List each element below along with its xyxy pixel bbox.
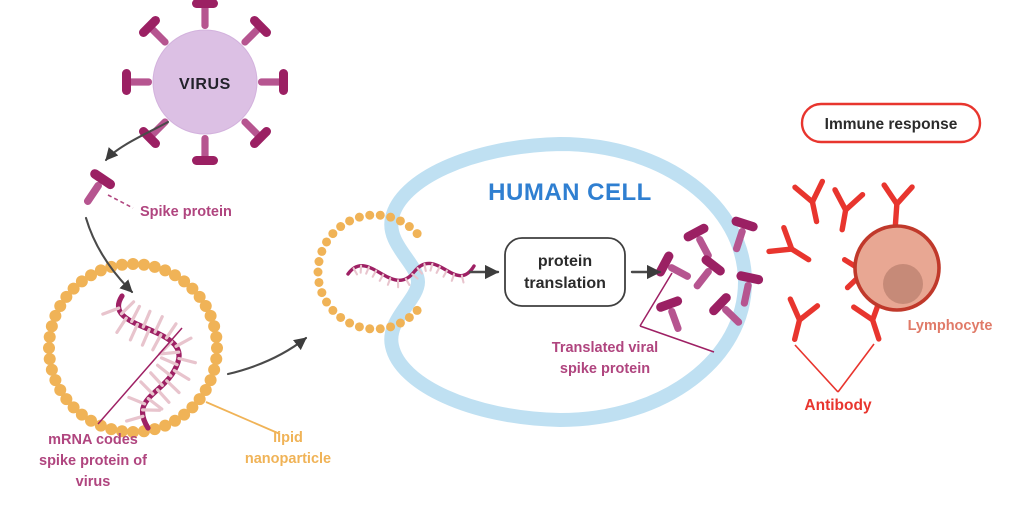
mrna-base-rung	[158, 390, 169, 403]
lipid-molecule-dot	[44, 353, 56, 365]
antibody-label: Antibody	[804, 397, 872, 414]
virus-spike-protein	[122, 69, 152, 95]
lipid-molecule-dot	[127, 258, 139, 270]
mrna-base-rung	[117, 318, 126, 332]
lipid-molecule-dot	[46, 364, 58, 376]
mrna-base-rung	[354, 268, 357, 274]
lipid-molecule-dot	[116, 259, 128, 271]
mrna-base-rung	[158, 365, 171, 376]
protein-translation-line-2: translation	[524, 275, 606, 292]
antibody	[881, 185, 912, 225]
mrna-codes-label-line-1: mRNA codes	[48, 432, 138, 448]
lipid-molecule-dot	[210, 331, 222, 343]
lipid-nanoparticle-leader-line	[206, 402, 280, 434]
mrna-codes-label-line-2: spike protein of	[39, 453, 147, 469]
antibody	[795, 181, 830, 224]
mrna-base-rung	[162, 352, 179, 354]
virus-spike-protein	[192, 0, 218, 29]
lymphocyte-nucleus	[883, 264, 923, 304]
lipid-molecule-dot	[317, 288, 326, 297]
lipid-molecule-dot	[386, 213, 395, 222]
lipid-molecule-dot	[365, 211, 374, 220]
lipid-molecule-dot	[396, 319, 405, 328]
mrna-base-rung	[148, 399, 161, 409]
mrna-base-rung	[122, 302, 134, 314]
lipid-molecule-dot	[149, 261, 161, 273]
mrna-base-rung	[167, 381, 179, 393]
spike-protein-isolated	[74, 167, 117, 212]
lipid-molecule-dot	[345, 216, 354, 225]
mrna-base-rung	[127, 416, 143, 421]
lipid-molecule-dot	[355, 213, 364, 222]
lipid-molecule-dot	[314, 278, 323, 287]
lipid-molecule-dot	[328, 229, 337, 238]
lipid-molecule-dot	[149, 423, 161, 435]
mrna-base-rung	[174, 370, 188, 379]
lipid-molecule-dot	[336, 222, 345, 231]
spike-protein-label: Spike protein	[140, 204, 232, 220]
mrna-base-rung	[388, 278, 390, 285]
mrna-codes-label-line-3: virus	[76, 474, 111, 490]
protein-translation-line-1: protein	[538, 253, 592, 270]
lipid-molecule-dot	[159, 420, 171, 432]
lipid-molecule-dot	[46, 320, 58, 332]
lipid-molecule-dot	[336, 313, 345, 322]
virus-label: VIRUS	[179, 76, 231, 93]
lipid-molecule-dot	[405, 313, 414, 322]
lipid-nanoparticle-label-line-2: nanoparticle	[245, 451, 331, 467]
lipid-molecule-dot	[328, 306, 337, 315]
lipid-molecule-dot	[49, 374, 61, 386]
lymphocyte-label: Lymphocyte	[908, 318, 993, 334]
mrna-base-rung	[153, 335, 161, 350]
mrna-base-rung	[161, 358, 177, 365]
lipid-molecule-dot	[345, 319, 354, 328]
diagram-canvas: HUMAN CELL VIRUS Spike protein mRNA code…	[0, 0, 1024, 512]
lipid-molecule-dot	[355, 322, 364, 331]
mrna-base-rung	[151, 373, 163, 385]
lipid-molecule-dot	[413, 306, 422, 315]
lipid-molecule-dot	[208, 364, 220, 376]
mrna-base-rung	[132, 306, 140, 321]
mrna-base-rung	[424, 264, 425, 271]
lipid-molecule-dot	[95, 264, 107, 276]
nanoparticle-to-cell-arrow	[228, 338, 306, 374]
antibody	[781, 299, 817, 343]
mrna-strand-large	[103, 296, 196, 428]
translated-viral-spike-label-line-2: spike protein	[560, 361, 650, 377]
antibody	[828, 190, 862, 232]
mrna-base-rung	[155, 317, 162, 332]
lipid-molecule-dot	[138, 259, 150, 271]
antibody	[769, 228, 816, 272]
mrna-base-rung	[179, 359, 195, 363]
mrna-codes-label: mRNA codesspike protein ofvirus	[39, 432, 147, 490]
mrna-base-rung	[143, 311, 150, 327]
virus-spike-protein	[258, 69, 288, 95]
virus-spike-protein	[192, 135, 218, 165]
mrna-base-rung	[142, 329, 149, 345]
lipid-molecule-dot	[322, 237, 331, 246]
mrna-base-rung	[103, 308, 119, 314]
lipid-molecule-dot	[208, 320, 220, 332]
human-cell-label: HUMAN CELL	[488, 179, 652, 206]
mrna-base-rung	[176, 338, 191, 346]
lipid-molecule-dot	[205, 310, 217, 322]
lipid-molecule-dot	[396, 216, 405, 225]
lipid-molecule-dot	[365, 324, 374, 333]
lipid-molecule-dot	[376, 211, 385, 220]
immune-response-badge[interactable]: Immune response	[802, 104, 980, 142]
protein-translation-box[interactable]: protein translation	[505, 238, 625, 306]
spike-protein-leader-line	[108, 195, 133, 208]
mrna-base-rung	[130, 324, 137, 340]
lipid-nanoparticle-label-line-1: lipid	[273, 430, 303, 446]
spike-protein-shape	[74, 167, 117, 212]
lipid-molecule-dot	[314, 268, 323, 277]
lipid-nanoparticle-large	[43, 258, 223, 438]
lipid-molecule-dot	[376, 324, 385, 333]
lymphocyte-cell	[855, 226, 939, 310]
lipid-molecule-dot	[317, 247, 326, 256]
lipid-molecule-dot	[43, 342, 55, 354]
lipid-molecule-dot	[405, 222, 414, 231]
protein-translation-box-frame	[505, 238, 625, 306]
mrna-base-rung	[380, 275, 383, 281]
mrna-vaccine-diagram: HUMAN CELL VIRUS Spike protein mRNA code…	[0, 0, 1024, 512]
mrna-base-rung	[129, 397, 145, 403]
antibody-leader-lines	[795, 344, 874, 392]
lipid-molecule-dot	[314, 257, 323, 266]
immune-response-label: Immune response	[825, 116, 958, 133]
lipid-molecule-dot	[322, 298, 331, 307]
lipid-molecule-dot	[413, 229, 422, 238]
lipid-molecule-dot	[44, 331, 56, 343]
lipid-nanoparticle-label: lipidnanoparticle	[245, 430, 331, 467]
lipid-molecule-dot	[386, 322, 395, 331]
lipid-molecule-dot	[211, 342, 223, 354]
mrna-base-rung	[141, 382, 153, 394]
translated-viral-spike-label-line-1: Translated viral	[552, 340, 658, 356]
lipid-molecule-dot	[210, 353, 222, 365]
